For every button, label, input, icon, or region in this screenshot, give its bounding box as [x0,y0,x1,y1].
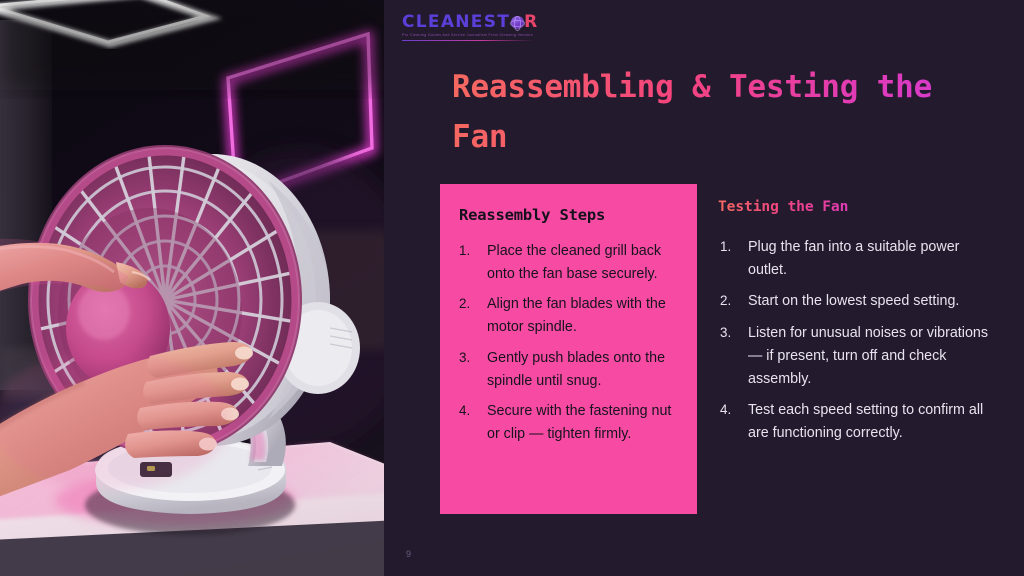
brand-wordmark: CLEANESTR [402,14,642,31]
testing-column: Testing the Fan Plug the fan into a suit… [718,198,988,454]
reassembly-card: Reassembly Steps Place the cleaned grill… [440,184,697,514]
content-panel: CLEANESTR Pro Cleaning Guides And Servic… [384,0,1024,576]
brand-logo[interactable]: CLEANESTR Pro Cleaning Guides And Servic… [402,14,642,41]
hero-photo [0,0,384,576]
fan-reassembly-illustration [0,0,384,576]
list-item: Start on the lowest speed setting. [718,290,988,313]
list-item: Test each speed setting to confirm all a… [718,399,988,444]
list-item: Gently push blades onto the spindle unti… [457,347,677,392]
reassembly-steps-list: Place the cleaned grill back onto the fa… [457,240,677,446]
brand-letter-after-globe: R [524,14,538,31]
list-item: Align the fan blades with the motor spin… [457,293,677,338]
brand-letters-before-globe: CLEANEST [402,14,510,31]
list-item: Listen for unusual noises or vibrations … [718,322,988,390]
page-number: 9 [406,549,411,559]
list-item: Plug the fan into a suitable power outle… [718,236,988,281]
brand-underline [402,40,534,41]
slide: CLEANESTR Pro Cleaning Guides And Servic… [0,0,1024,576]
page-title: Reassembling & Testing the Fan [452,62,992,162]
testing-column-heading: Testing the Fan [718,198,848,215]
globe-icon [511,16,524,29]
reassembly-card-heading: Reassembly Steps [459,206,677,224]
brand-tagline: Pro Cleaning Guides And Service Journali… [402,34,642,38]
testing-steps-list: Plug the fan into a suitable power outle… [718,236,988,445]
list-item: Secure with the fastening nut or clip — … [457,400,677,445]
list-item: Place the cleaned grill back onto the fa… [457,240,677,285]
